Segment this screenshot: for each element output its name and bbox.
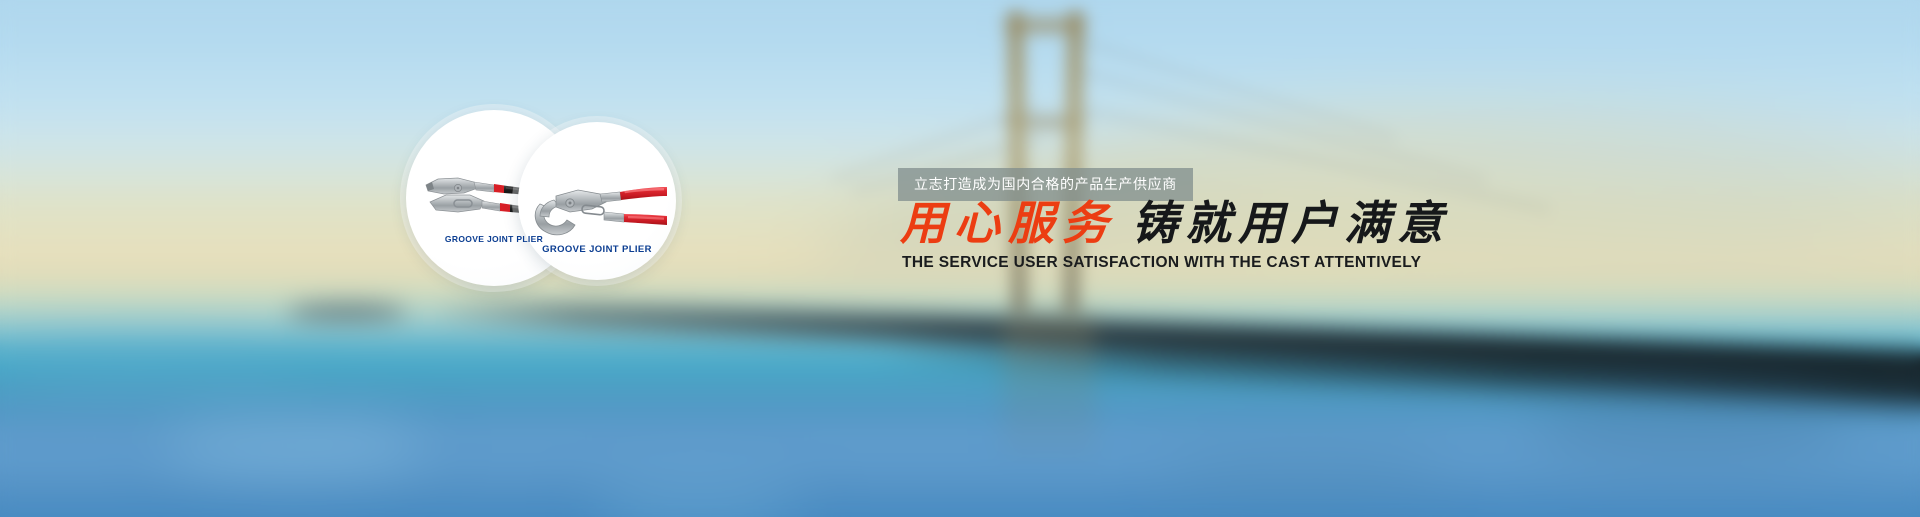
subheadline: THE SERVICE USER SATISFACTION WITH THE C… (902, 254, 1421, 272)
product-caption: GROOVE JOINT PLIER (445, 234, 543, 244)
product-caption: GROOVE JOINT PLIER (542, 244, 652, 255)
hero-banner: GROOVE JOINT PLIER (0, 0, 1920, 517)
headline: 用心服务铸就用户满意 (900, 200, 1450, 246)
headline-red-text: 用心服务 (900, 196, 1116, 250)
groove-joint-plier-icon (526, 170, 670, 244)
headline-black-text: 铸就用户满意 (1132, 196, 1450, 250)
product-circle-2[interactable]: GROOVE JOINT PLIER (518, 122, 676, 280)
